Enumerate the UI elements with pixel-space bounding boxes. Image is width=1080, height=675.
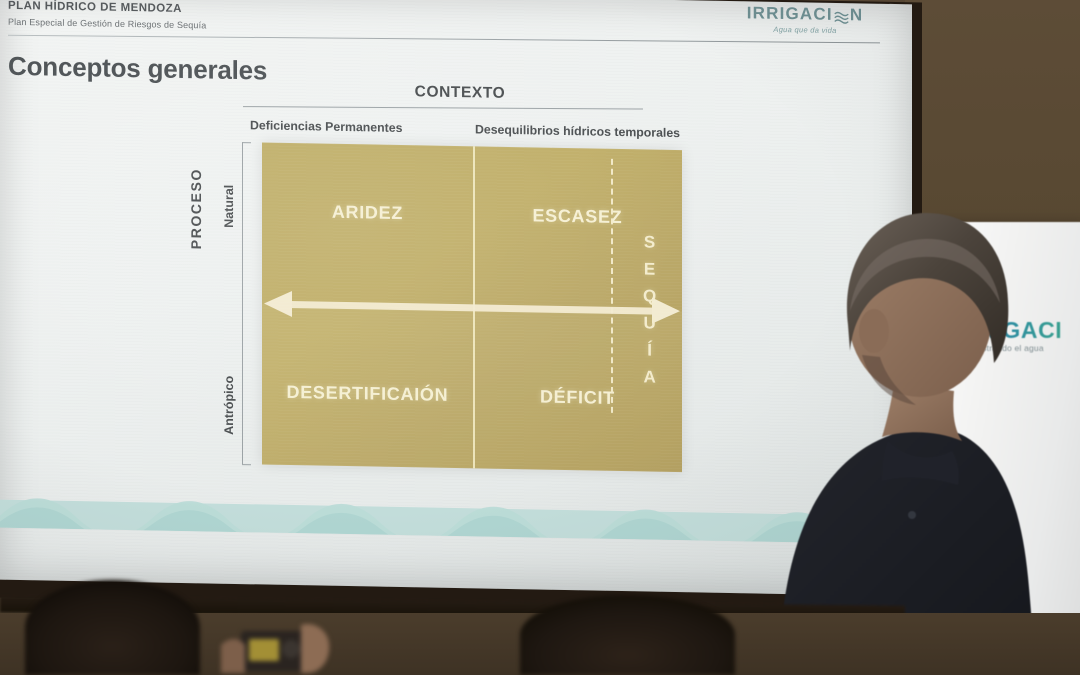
audience-hands-with-camera	[215, 615, 335, 675]
row-header-anthropic: Antrópico	[222, 376, 236, 435]
sequia-letter: Í	[647, 341, 652, 361]
context-axis-title: CONTEXTO	[350, 82, 570, 104]
arrow-shaft	[290, 300, 654, 314]
brand-name-text: IRRIGACI	[747, 3, 833, 25]
quadrant-label-aridez: ARIDEZ	[332, 202, 403, 224]
quadrant-label-deficit: DÉFICIT	[540, 387, 615, 409]
header-divider	[8, 35, 880, 44]
irrigacion-logo: IRRIGACI N Agua que da vida	[725, 3, 885, 36]
brand-name-end: N	[850, 5, 863, 25]
arrow-head-left-icon	[264, 290, 292, 317]
quadrant-label-escasez: ESCASEZ	[532, 205, 622, 228]
sequia-vertical-label: S E Q U Í A	[632, 191, 668, 430]
sequia-letter: E	[644, 260, 655, 280]
process-axis-tick-bottom	[242, 464, 251, 465]
quadrant-desertificacion: DESERTIFICAIÓN	[262, 303, 473, 468]
slide-header-title: PLAN HÍDRICO DE MENDOZA	[8, 0, 182, 15]
sequia-letter: S	[644, 233, 655, 253]
column-header-temporal-imbalances: Desequilibrios hídricos temporales	[475, 122, 680, 140]
process-axis-line	[242, 142, 243, 464]
quadrant-aridez: ARIDEZ	[262, 142, 473, 307]
context-axis-rule	[243, 106, 643, 109]
screenshot-stage: PLAN HÍDRICO DE MENDOZA Plan Especial de…	[0, 0, 1080, 675]
sequia-dashed-boundary	[611, 158, 613, 412]
process-axis-tick-top	[242, 142, 251, 143]
brand-tagline: Agua que da vida	[725, 24, 885, 36]
audience-head-right	[520, 595, 735, 675]
sequia-letter: A	[643, 368, 655, 388]
slide-header-subtitle: Plan Especial de Gestión de Riesgos de S…	[8, 17, 206, 31]
process-axis-title: PROCESO	[188, 168, 204, 250]
presenter-silhouette	[770, 185, 1080, 675]
sequia-letter: U	[643, 314, 655, 334]
column-header-permanent-deficiencies: Deficiencias Permanentes	[250, 118, 402, 135]
row-header-natural: Natural	[222, 185, 236, 228]
audience-head-left	[25, 580, 200, 675]
water-wave-icon	[834, 9, 849, 23]
concepts-matrix-diagram: CONTEXTO Deficiencias Permanentes Desequ…	[180, 79, 780, 490]
quadrant-label-desertificacion: DESERTIFICAIÓN	[287, 382, 449, 406]
matrix-body: ARIDEZ ESCASEZ DESERTIFICAIÓN DÉFICIT	[262, 142, 682, 472]
sequia-letter: Q	[643, 287, 656, 307]
